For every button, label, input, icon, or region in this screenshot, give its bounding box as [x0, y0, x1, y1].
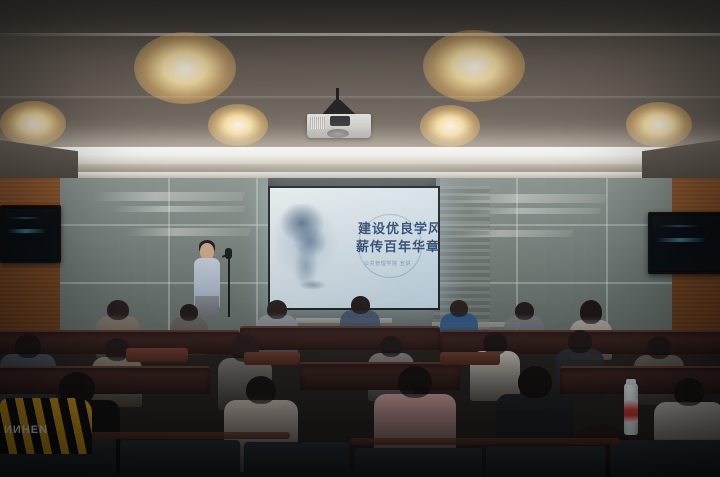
foreground-seat-back — [244, 442, 350, 477]
glass-reflection — [93, 192, 246, 201]
downlight-5 — [420, 105, 480, 147]
cove-light-strip — [0, 147, 720, 164]
slide-headline-line2: 薪传百年华章 — [356, 236, 440, 255]
foreground-seat-back — [610, 440, 720, 477]
projector-lens — [327, 129, 349, 138]
tv-reflection — [656, 238, 706, 242]
person-head — [267, 300, 287, 319]
projector-adjust-knob — [330, 116, 350, 126]
ceiling-soffit-band-1 — [0, 36, 720, 100]
tv-reflection — [9, 217, 41, 219]
glass-reflection — [125, 228, 251, 236]
person-head — [674, 378, 704, 406]
microphone-stand — [228, 255, 230, 317]
projector-mount-rod — [336, 88, 339, 102]
downlight-4 — [208, 104, 268, 146]
projector-vent — [310, 117, 325, 129]
glass-reflection — [111, 206, 245, 212]
mullion-horizontal — [60, 282, 280, 284]
person-head — [246, 376, 276, 404]
foreground-seat-back — [486, 446, 606, 477]
person-head — [351, 296, 370, 314]
person-head — [450, 300, 468, 317]
person-head — [380, 336, 402, 357]
ink-wash-tail — [300, 280, 326, 290]
person-head — [398, 366, 432, 398]
person-head — [180, 304, 198, 321]
downlight-3 — [0, 101, 66, 146]
water-bottle-label — [624, 400, 638, 422]
downlight-2 — [423, 30, 525, 102]
person-head — [580, 300, 602, 324]
person-head — [107, 300, 129, 320]
slide-subtitle: 公共管理学院 宣讲 — [364, 260, 411, 267]
screen-valance — [268, 178, 436, 186]
slide-headline-line1: 建设优良学风 — [358, 218, 440, 237]
mullion-horizontal — [60, 224, 280, 226]
ceiling-upper-plane — [0, 0, 720, 34]
person-head — [15, 334, 41, 358]
tshirt-text: ИИНЕN — [4, 424, 48, 436]
downlight-1 — [134, 32, 236, 104]
foreground-seat-back — [354, 448, 482, 477]
seat-armrest — [126, 348, 188, 362]
lecture-hall-photo: 建设优良学风 薪传百年华章 公共管理学院 宣讲 ИИНЕN — [0, 0, 720, 477]
wall-tv-right — [648, 212, 720, 274]
person-head — [647, 336, 671, 359]
person-head — [568, 330, 592, 353]
person-head — [518, 366, 552, 398]
ink-wash-artwork — [276, 204, 338, 290]
person-head — [515, 302, 534, 320]
seat-armrest — [244, 352, 300, 365]
tv-reflection — [7, 229, 46, 233]
downlight-6 — [626, 102, 692, 147]
foreground-seat-back — [120, 440, 240, 477]
tv-reflection — [659, 225, 700, 227]
water-bottle-cap — [626, 379, 636, 385]
seat-armrest — [440, 352, 500, 365]
tv-screen — [4, 209, 57, 259]
wall-tv-left — [0, 205, 61, 263]
tv-screen — [652, 216, 720, 270]
projection-screen: 建设优良学风 薪传百年华章 公共管理学院 宣讲 — [268, 186, 440, 310]
seat-row-rail — [350, 438, 620, 445]
